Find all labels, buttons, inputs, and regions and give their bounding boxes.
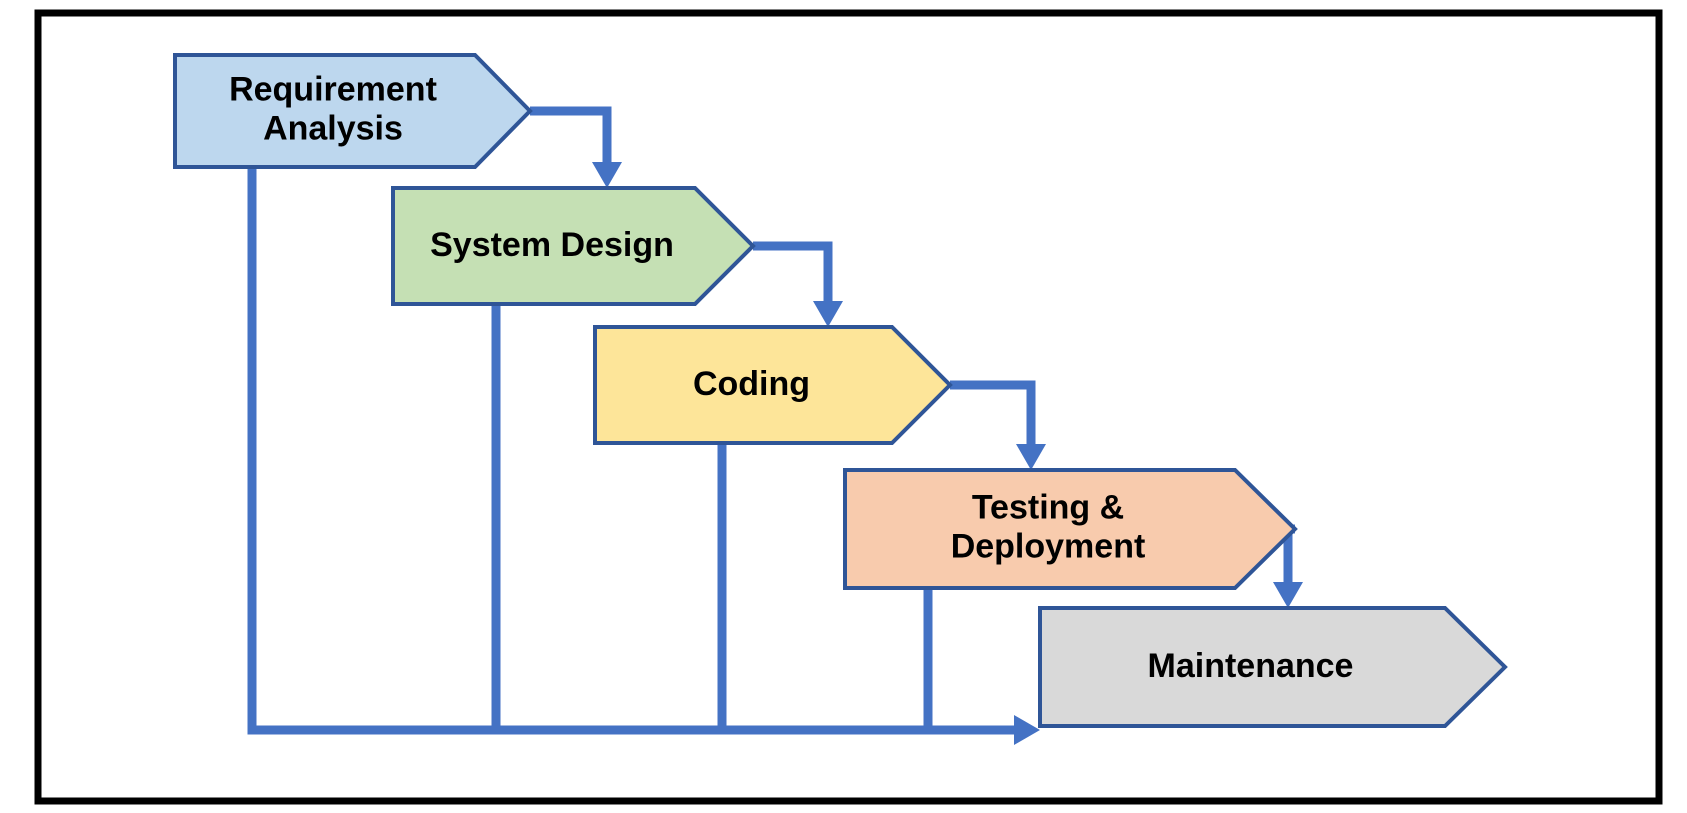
testing-to-maintenance-arrowhead xyxy=(1273,582,1303,608)
waterfall-diagram-root: RequirementAnalysisSystem DesignCodingTe… xyxy=(0,0,1687,813)
stage-coding[interactable]: Coding xyxy=(595,327,950,443)
coding-to-testing-arrowhead xyxy=(1016,444,1046,470)
stage-testing-deployment[interactable]: Testing &Deployment xyxy=(845,470,1295,588)
design-to-coding-arrowhead xyxy=(813,301,843,327)
stage-label-line-2: Deployment xyxy=(951,528,1146,566)
stage-label-coding: Coding xyxy=(693,365,810,403)
coding-to-testing-line xyxy=(950,385,1031,444)
stage-label-line-2: Analysis xyxy=(263,110,403,148)
stage-maintenance[interactable]: Maintenance xyxy=(1040,608,1505,726)
stage-group: RequirementAnalysisSystem DesignCodingTe… xyxy=(175,55,1505,726)
stage-requirement-analysis[interactable]: RequirementAnalysis xyxy=(175,55,530,167)
stage-label-system-design: System Design xyxy=(430,226,674,264)
design-to-coding-line xyxy=(753,246,828,301)
waterfall-diagram-canvas: RequirementAnalysisSystem DesignCodingTe… xyxy=(0,0,1687,813)
stage-label-maintenance: Maintenance xyxy=(1148,647,1354,685)
stage-label-line-1: Requirement xyxy=(229,70,437,108)
feedback-arrowhead xyxy=(1014,715,1040,745)
req-to-design-arrowhead xyxy=(592,162,622,188)
stage-label-testing-deployment: Testing &Deployment xyxy=(951,488,1146,565)
req-to-design-line xyxy=(530,111,607,162)
stage-system-design[interactable]: System Design xyxy=(393,188,753,304)
stage-label-line-1: Testing & xyxy=(972,488,1124,526)
